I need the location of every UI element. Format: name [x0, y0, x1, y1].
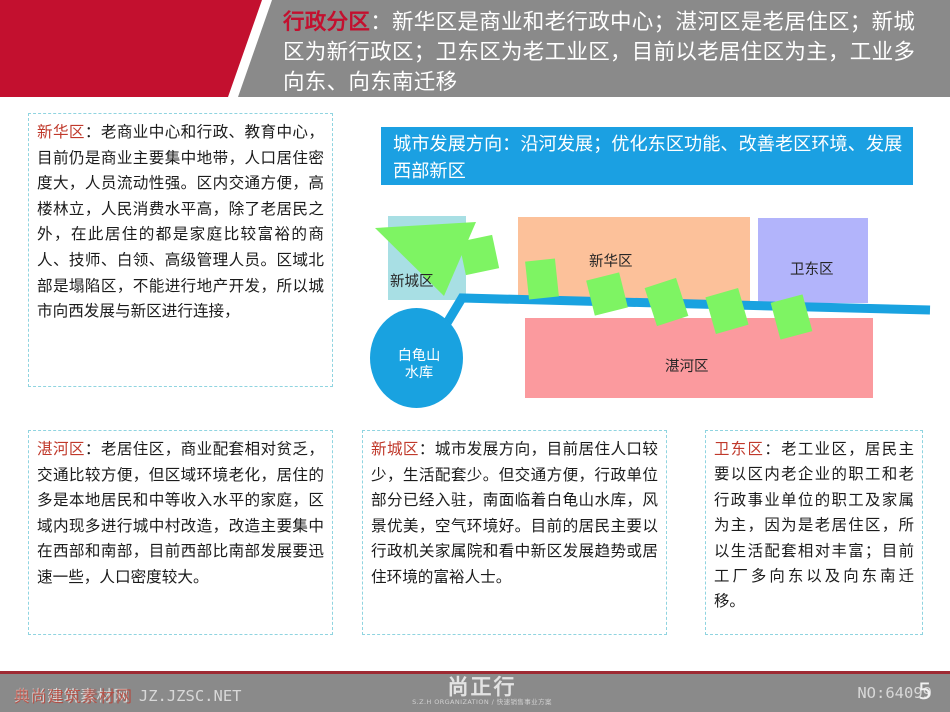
district-name-weidong: 卫东区 [714, 440, 764, 458]
slide-header: 行政分区：新华区是商业和老行政中心；湛河区是老居住区；新城区为新行政区；卫东区为… [0, 0, 950, 97]
company-logo: 尚正行 S.Z.H ORGANIZATION / 快速销售事业方案 [412, 676, 552, 710]
district-desc-weidong: ：老工业区，居民主要以区内老企业的职工和老行政事业单位的职工及家属为主，因为是老… [714, 440, 914, 610]
footer-watermark: 典尚建筑素材网 [14, 683, 133, 707]
green-block [459, 235, 499, 275]
district-map: 新城区 新华区 卫东区 湛河区 白龟山 水库 [370, 200, 930, 420]
page-number: 5 [918, 680, 932, 705]
footer-site-url: JZ.JZSC.NET [139, 687, 242, 705]
green-block [525, 259, 559, 300]
slide-page: 行政分区：新华区是商业和老行政中心；湛河区是老居住区；新城区为新行政区；卫东区为… [0, 0, 950, 712]
map-label-weidong: 卫东区 [790, 258, 834, 279]
district-desc-xinhua: ：老商业中心和行政、教育中心，目前仍是商业主要集中地带，人口居住密度大，人员流动… [37, 123, 324, 320]
district-name-xinhua: 新华区 [37, 123, 85, 141]
map-lake-label: 白龟山 水库 [388, 348, 450, 382]
company-logo-mark: 尚正行 [412, 676, 552, 698]
textbox-xinhua: 新华区：老商业中心和行政、教育中心，目前仍是商业主要集中地带，人口居住密度大，人… [28, 113, 333, 387]
textbox-zhanhe: 湛河区：老居住区，商业配套相对贫乏，交通比较方便，但区域环境老化，居住的多是本地… [28, 430, 333, 635]
district-desc-zhanhe: ：老居住区，商业配套相对贫乏，交通比较方便，但区域环境老化，居住的多是本地居民和… [37, 440, 324, 586]
district-name-zhanhe: 湛河区 [37, 440, 85, 458]
map-label-zhanhe: 湛河区 [665, 355, 709, 376]
textbox-weidong: 卫东区：老工业区，居民主要以区内老企业的职工和老行政事业单位的职工及家属为主，因… [705, 430, 923, 635]
header-title: 行政分区：新华区是商业和老行政中心；湛河区是老居住区；新城区为新行政区；卫东区为… [283, 8, 928, 98]
map-label-xincheng: 新城区 [390, 270, 434, 291]
map-lake-label-line2: 水库 [388, 365, 450, 382]
map-lake-label-line1: 白龟山 [388, 348, 450, 365]
company-logo-subtitle: S.Z.H ORGANIZATION / 快速销售事业方案 [412, 698, 552, 706]
district-desc-xincheng: ：城市发展方向，目前居住人口较少，生活配套少。但交通方便，行政单位部分已经入驻，… [371, 440, 658, 586]
header-red-banner [0, 0, 262, 97]
map-label-xinhua: 新华区 [589, 250, 633, 271]
header-highlight: 行政分区 [283, 10, 370, 35]
district-name-xincheng: 新城区 [371, 440, 419, 458]
city-development-text: 城市发展方向：沿河发展；优化东区功能、改善老区环境、发展西部新区 [393, 134, 902, 182]
city-development-banner: 城市发展方向：沿河发展；优化东区功能、改善老区环境、发展西部新区 [381, 127, 913, 185]
header-body: ：新华区是商业和老行政中心；湛河区是老居住区；新城区为新行政区；卫东区为老工业区… [283, 10, 915, 95]
textbox-xincheng: 新城区：城市发展方向，目前居住人口较少，生活配套少。但交通方便，行政单位部分已经… [362, 430, 667, 635]
